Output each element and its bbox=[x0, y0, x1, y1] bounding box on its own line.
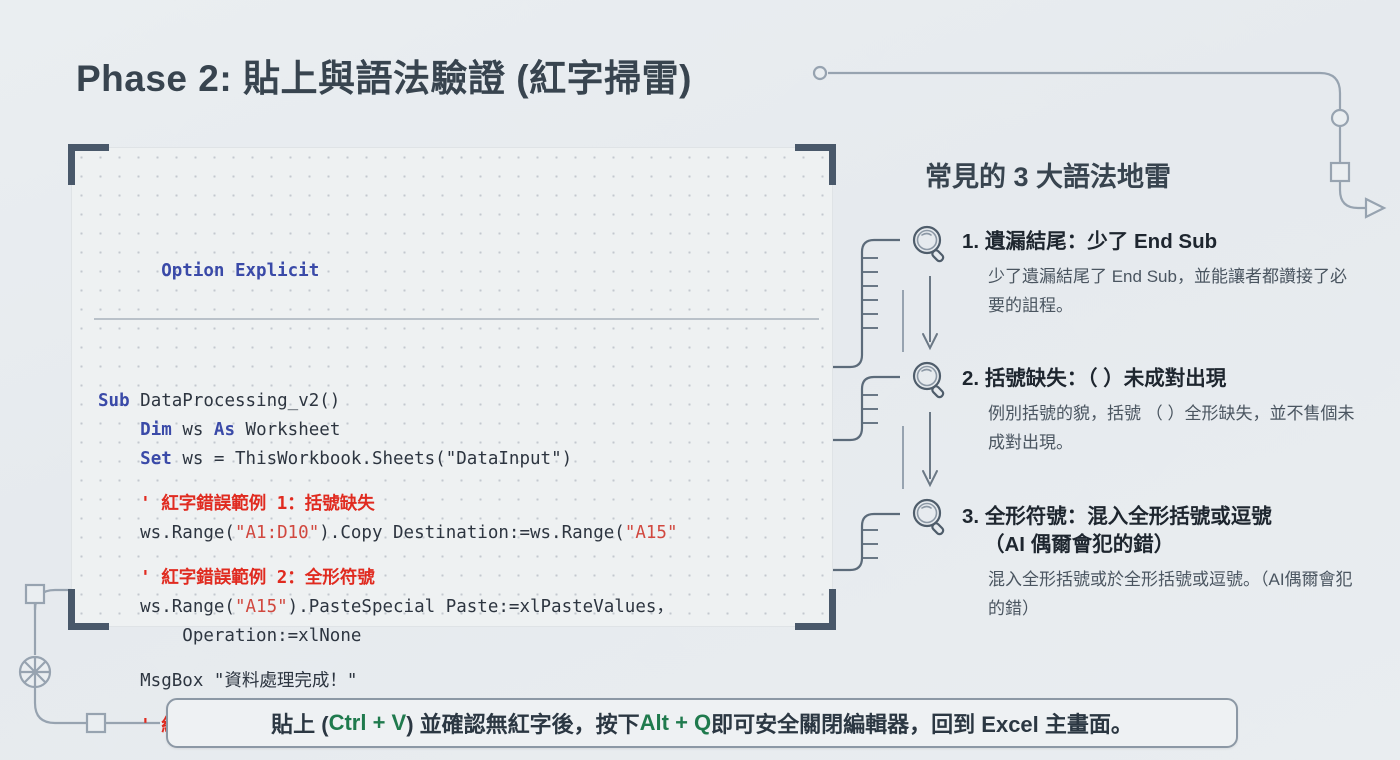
code-token bbox=[98, 449, 140, 469]
right-panel-heading: 常見的 3 大語法地雷 bbox=[925, 155, 1171, 194]
code-token: ' 紅字錯誤範例 1：括號缺失 bbox=[98, 494, 375, 514]
code-line-blank2 bbox=[98, 548, 816, 564]
code-line-paste: ws.Range("A15").PasteSpecial Paste:=xlPa… bbox=[98, 593, 816, 622]
magnifier-icon-3 bbox=[908, 495, 954, 541]
code-line-comment2: ' 紅字錯誤範例 2：全形符號 bbox=[98, 564, 816, 593]
code-token: Operation:=xlNone bbox=[98, 626, 361, 646]
code-line-set: Set ws = ThisWorkbook.Sheets("DataInput"… bbox=[98, 445, 816, 474]
code-token: ).Copy Destination:=ws.Range( bbox=[319, 523, 625, 543]
pitfall-item-2: 2. 括號缺失：（ ）未成對出現 例別括號的貌，括號 （ ）全形缺失，並不售個未… bbox=[962, 365, 1362, 457]
banner-part-3: 即可安全關閉編輯器，回到 Excel 主畫面。 bbox=[711, 707, 1133, 739]
pitfall-title-3: 3. 全形符號：混入全形括號或逗號 （AI 偶爾會犯的錯） bbox=[962, 503, 1362, 559]
code-token: "A15" bbox=[625, 523, 678, 543]
summary-banner: 貼上 (Ctrl + V) 並確認無紅字後，按下 Alt + Q 即可安全關閉編… bbox=[166, 698, 1238, 748]
code-line-operation: Operation:=xlNone bbox=[98, 622, 816, 651]
code-header-line: Option Explicit bbox=[98, 228, 816, 257]
pitfall-number-1: 1. bbox=[962, 230, 979, 253]
code-token: "A15" bbox=[235, 597, 288, 617]
pitfall-item-3: 3. 全形符號：混入全形括號或逗號 （AI 偶爾會犯的錯） 混入全形括號或於全形… bbox=[962, 503, 1362, 623]
code-token: ws bbox=[182, 420, 214, 440]
banner-part-1: 貼上 ( bbox=[271, 707, 328, 739]
pitfall-title-text-2: 括號缺失：（ ）未成對出現 bbox=[985, 367, 1226, 390]
pitfall-title-line2-3: （AI 偶爾會犯的錯） bbox=[962, 531, 1362, 559]
pitfall-title-2: 2. 括號缺失：（ ）未成對出現 bbox=[962, 365, 1362, 393]
pitfall-body-2: 例別括號的貌，括號 （ ）全形缺失，並不售個未成對出現。 bbox=[962, 399, 1362, 457]
code-line-sub: Sub DataProcessing_v2() bbox=[98, 387, 816, 416]
code-token: ws = ThisWorkbook.Sheets("DataInput") bbox=[182, 449, 572, 469]
code-token: ' 紅字錯誤範例 2：全形符號 bbox=[98, 568, 375, 588]
magnifier-icon-1 bbox=[908, 222, 954, 268]
code-line-dim: Dim ws As Worksheet bbox=[98, 416, 816, 445]
code-panel: Option Explicit Sub DataProcessing_v2() … bbox=[72, 148, 832, 626]
code-lines: Sub DataProcessing_v2() Dim ws As Worksh… bbox=[98, 387, 816, 741]
code-token: Dim bbox=[140, 420, 182, 440]
code-line-copy: ws.Range("A1:D10").Copy Destination:=ws.… bbox=[98, 519, 816, 548]
code-token: As bbox=[214, 420, 246, 440]
code-header-rule bbox=[94, 318, 819, 320]
code-option-explicit: Option Explicit bbox=[161, 261, 319, 281]
code-token: MsgBox "資料處理完成！" bbox=[98, 671, 357, 691]
code-line-blank1 bbox=[98, 474, 816, 490]
banner-shortcut-paste: Ctrl + V bbox=[329, 710, 407, 736]
page-title: Phase 2: 貼上與語法驗證 (紅字掃雷) bbox=[76, 48, 692, 102]
code-token: "A1:D10" bbox=[235, 523, 319, 543]
pitfall-number-2: 2. bbox=[962, 367, 979, 390]
pitfall-body-1: 少了遺漏結尾了 End Sub，並能讓者都讚接了必要的詛程。 bbox=[962, 262, 1362, 320]
pitfall-title-text-1: 遺漏結尾：少了 End Sub bbox=[985, 230, 1217, 253]
code-token: Sub bbox=[98, 391, 140, 411]
code-token: DataProcessing_v2() bbox=[140, 391, 340, 411]
code-body: Option Explicit Sub DataProcessing_v2() … bbox=[98, 170, 816, 760]
banner-shortcut-close: Alt + Q bbox=[640, 710, 712, 736]
code-line-msgbox: MsgBox "資料處理完成！" bbox=[98, 667, 816, 696]
pitfall-item-1: 1. 遺漏結尾：少了 End Sub 少了遺漏結尾了 End Sub，並能讓者都… bbox=[962, 228, 1362, 320]
code-token: ws.Range( bbox=[98, 597, 235, 617]
pitfall-title-text-3: 全形符號：混入全形括號或逗號 bbox=[985, 505, 1272, 528]
code-token: Set bbox=[140, 449, 182, 469]
code-line-comment1: ' 紅字錯誤範例 1：括號缺失 bbox=[98, 490, 816, 519]
pitfall-body-3: 混入全形括號或於全形括號或逗號。（AI偶爾會犯的錯） bbox=[962, 565, 1362, 623]
code-token bbox=[98, 420, 140, 440]
code-token: ).PasteSpecial Paste:=xlPasteValues， bbox=[288, 597, 674, 617]
banner-part-2: ) 並確認無紅字後，按下 bbox=[406, 707, 639, 739]
magnifier-icon-2 bbox=[908, 358, 954, 404]
pitfall-number-3: 3. bbox=[962, 505, 979, 528]
pitfall-title-1: 1. 遺漏結尾：少了 End Sub bbox=[962, 228, 1362, 256]
code-token: ws.Range( bbox=[98, 523, 235, 543]
code-line-blank3 bbox=[98, 651, 816, 667]
code-token: Worksheet bbox=[246, 420, 341, 440]
